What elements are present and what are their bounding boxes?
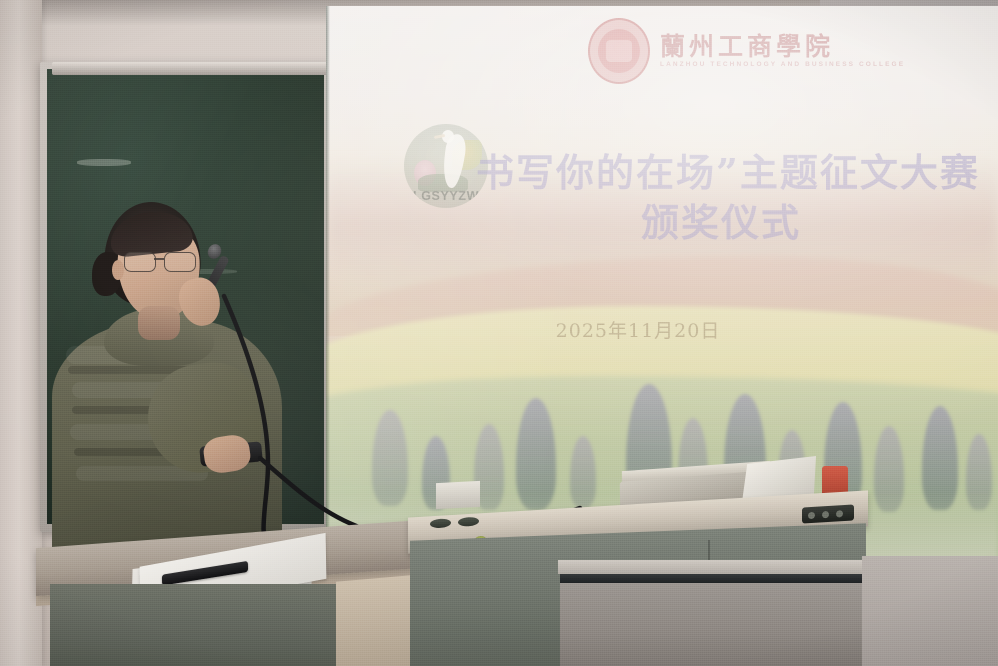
classroom-photo-scene: 蘭州工商學院 LANZHOU TECHNOLOGY AND BUSINESS C… [0, 0, 998, 666]
console-control-panel[interactable] [802, 504, 854, 523]
chalk-smudge [77, 159, 131, 166]
university-name-cn: 蘭州工商學院 [660, 34, 905, 59]
eyeglasses-icon [124, 252, 198, 270]
chalkboard-top-rail [52, 62, 334, 75]
university-seal-icon [588, 18, 650, 84]
slide-date: 2025年11月20日 [326, 316, 998, 343]
university-name-en: LANZHOU TECHNOLOGY AND BUSINESS COLLEGE [660, 61, 905, 68]
university-logo: 蘭州工商學院 LANZHOU TECHNOLOGY AND BUSINESS C… [588, 18, 905, 84]
slide-title: 书写你的在场”主题征文大赛 颁奖仪式 [476, 148, 986, 248]
presenter-ear [112, 260, 124, 280]
slide-title-line-2: 颁奖仪式 [476, 198, 986, 248]
lectern [36, 520, 422, 666]
presenter-neck [138, 306, 180, 340]
right-wall-section [862, 556, 998, 666]
university-name-block: 蘭州工商學院 LANZHOU TECHNOLOGY AND BUSINESS C… [660, 34, 905, 68]
console-white-book [436, 481, 480, 509]
slide-title-line-1: 书写你的在场”主题征文大赛 [476, 150, 980, 195]
